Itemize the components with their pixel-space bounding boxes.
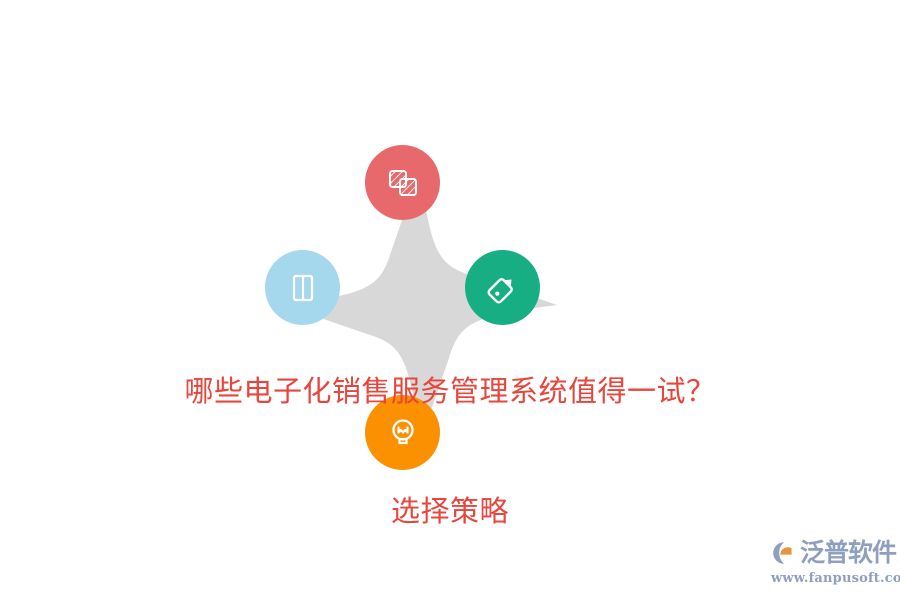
brand-logo[interactable]: 泛普软件 www.fanpusoft.com [771, 536, 893, 588]
fanpu-logo-icon [771, 540, 797, 566]
headline-line-2: 选择策略 [0, 491, 900, 531]
node-top-copy[interactable] [365, 145, 440, 220]
logo-name: 泛普软件 [800, 539, 896, 567]
headline-text: 哪些电子化销售服务管理系统值得一试？ 选择策略 [0, 291, 900, 611]
logo-row: 泛普软件 [771, 536, 893, 570]
copy-icon [386, 166, 420, 200]
page-canvas: 哪些电子化销售服务管理系统值得一试？ 选择策略 泛普软件 www.fanpuso… [0, 0, 900, 600]
headline-line-1: 哪些电子化销售服务管理系统值得一试？ [0, 371, 900, 411]
logo-url: www.fanpusoft.com [771, 571, 893, 587]
